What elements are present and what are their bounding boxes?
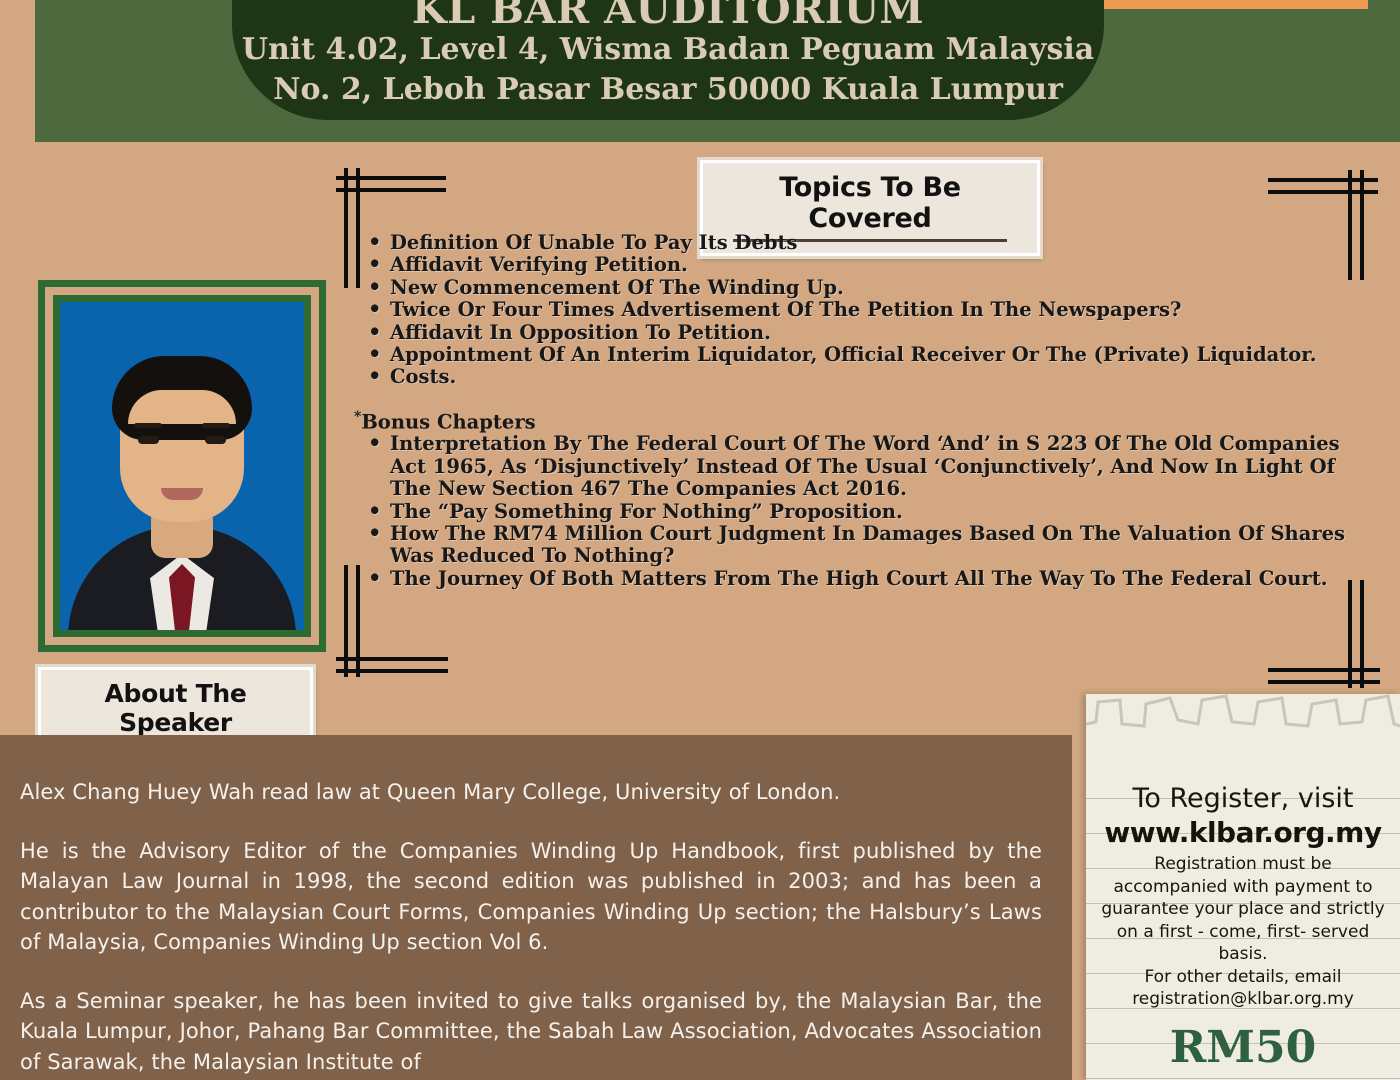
portrait-mouth [161, 488, 203, 500]
portrait-eyebrow-right [202, 423, 230, 428]
speaker-photo-frame [38, 280, 326, 652]
bonus-item: How The RM74 Million Court Judgment In D… [362, 523, 1347, 568]
topics-banner-label: Topics To Be Covered [729, 172, 1011, 234]
corner-deco-bottom-right [1268, 580, 1380, 688]
about-speaker-label: About The Speaker [67, 679, 284, 737]
bonus-item: The Journey Of Both Matters From The Hig… [362, 568, 1347, 590]
registration-url[interactable]: www.klbar.org.my [1100, 815, 1386, 851]
portrait-hair [112, 356, 252, 440]
registration-instructions: Registration must be accompanied with pa… [1100, 853, 1386, 1011]
bonus-item: The “Pay Something For Nothing” Proposit… [362, 501, 1347, 523]
bonus-chapters-heading: *Bonus Chapters [354, 409, 1347, 434]
topics-list: Definition Of Unable To Pay Its Debts Af… [362, 232, 1347, 389]
topic-item: Costs. [362, 366, 1347, 388]
speaker-bio-panel: Alex Chang Huey Wah read law at Queen Ma… [0, 735, 1072, 1080]
registration-note: To Register, visit www.klbar.org.my Regi… [1086, 694, 1400, 1080]
portrait-eyebrow-left [134, 423, 162, 428]
venue-panel: KL BAR AUDITORIUM Unit 4.02, Level 4, Wi… [232, 0, 1104, 120]
orange-accent-bar [1078, 0, 1368, 9]
registration-price: RM50 [1100, 1021, 1386, 1075]
seminar-poster: KL BAR AUDITORIUM Unit 4.02, Level 4, Wi… [0, 0, 1400, 1080]
topic-item: Definition Of Unable To Pay Its Debts [362, 232, 1347, 254]
bio-paragraph: He is the Advisory Editor of the Compani… [20, 836, 1042, 958]
topic-item: Appointment Of An Interim Liquidator, Of… [362, 344, 1347, 366]
portrait-eye-right [205, 436, 226, 444]
topic-item: Twice Or Four Times Advertisement Of The… [362, 299, 1347, 321]
bio-paragraph: Alex Chang Huey Wah read law at Queen Ma… [20, 777, 1042, 808]
topic-item: Affidavit Verifying Petition. [362, 254, 1347, 276]
bonus-chapters-list: Interpretation By The Federal Court Of T… [362, 433, 1347, 590]
topics-section: Definition Of Unable To Pay Its Debts Af… [362, 232, 1347, 590]
registration-title: To Register, visit [1100, 782, 1386, 815]
venue-address-line-1: Unit 4.02, Level 4, Wisma Badan Peguam M… [232, 30, 1104, 70]
bonus-item: Interpretation By The Federal Court Of T… [362, 433, 1347, 500]
speaker-portrait-image [60, 302, 304, 630]
portrait-eye-left [138, 436, 159, 444]
bonus-chapters-label: Bonus Chapters [361, 410, 535, 433]
topic-item: Affidavit In Opposition To Petition. [362, 322, 1347, 344]
photo-mat-inner [53, 295, 311, 637]
photo-mat-outer [45, 287, 319, 645]
venue-address-line-2: No. 2, Leboh Pasar Besar 50000 Kuala Lum… [232, 70, 1104, 110]
torn-paper-edge-icon [1086, 694, 1400, 766]
venue-title: KL BAR AUDITORIUM [232, 0, 1104, 30]
topic-item: New Commencement Of The Winding Up. [362, 277, 1347, 299]
bio-paragraph: As a Seminar speaker, he has been invite… [20, 986, 1042, 1078]
